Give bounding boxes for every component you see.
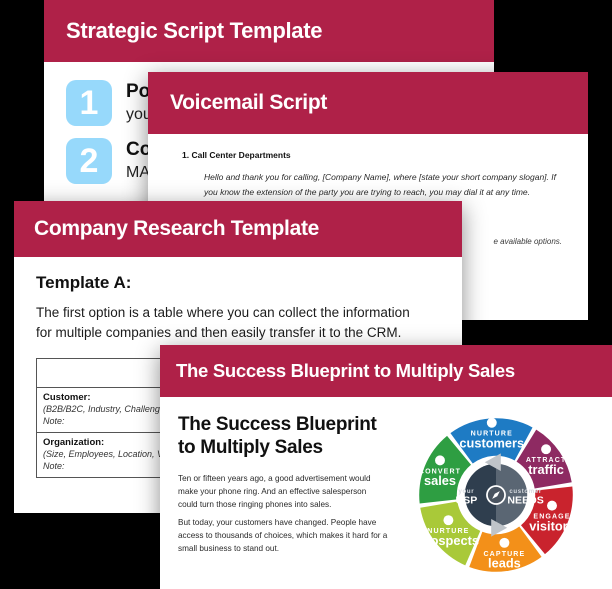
blueprint-body-title: The Success Blueprint to Multiply Sales xyxy=(178,413,388,459)
wheel-segment-big-label: customers xyxy=(459,436,524,451)
people-icon xyxy=(547,501,557,511)
step-number-badge: 1 xyxy=(66,80,112,126)
voicemail-tail-text: e available options. xyxy=(494,237,563,246)
edit-form-icon xyxy=(499,538,509,548)
sales-success-wheel-chart: your USP customer NEEDS ATTRACTtrafficEN… xyxy=(416,415,576,575)
magnet-icon xyxy=(541,444,551,454)
wheel-segment-big-label: sales xyxy=(424,473,456,488)
card-company-research-header: Company Research Template xyxy=(14,201,462,257)
wheel-segment-big-label: prospects xyxy=(418,533,479,548)
chat-icon xyxy=(443,515,453,525)
card-success-blueprint-header: The Success Blueprint to Multiply Sales xyxy=(160,345,612,397)
template-intro-paragraph: The first option is a table where you ca… xyxy=(36,303,428,342)
step-number-badge: 2 xyxy=(66,138,112,184)
voicemail-quote: Hello and thank you for calling, [Compan… xyxy=(204,170,559,200)
card-success-blueprint[interactable]: The Success Blueprint to Multiply Sales … xyxy=(160,345,612,589)
card-voicemail-script-header: Voicemail Script xyxy=(148,72,588,134)
card-voicemail-script-title: Voicemail Script xyxy=(170,91,327,115)
blueprint-paragraph: But today, your customers have changed. … xyxy=(178,517,388,555)
card-success-blueprint-title: The Success Blueprint to Multiply Sales xyxy=(176,360,515,382)
hub-left-big-label: USP xyxy=(456,494,478,506)
card-company-research-title: Company Research Template xyxy=(34,217,319,241)
template-heading: Template A: xyxy=(36,273,440,293)
blueprint-diagram-column: your USP customer NEEDS ATTRACTtrafficEN… xyxy=(394,413,598,575)
card-voicemail-script-body: 1. Call Center Departments Hello and tha… xyxy=(148,134,588,200)
money-icon xyxy=(435,455,445,465)
card-strategic-script-header: Strategic Script Template xyxy=(44,0,494,62)
card-success-blueprint-body: The Success Blueprint to Multiply Sales … xyxy=(160,397,612,575)
hub-right-big-label: NEEDS xyxy=(507,494,543,506)
blueprint-text-column: The Success Blueprint to Multiply Sales … xyxy=(178,413,388,575)
wheel-segment-big-label: leads xyxy=(488,556,521,571)
wheel-segment-big-label: visitors xyxy=(529,518,575,533)
flame-icon xyxy=(487,418,497,428)
blueprint-paragraph: Ten or fifteen years ago, a good adverti… xyxy=(178,473,388,511)
screenshot-stage: Strategic Script Template 1 Pow your 2 C… xyxy=(0,0,612,589)
wheel-segment-big-label: traffic xyxy=(528,462,564,477)
voicemail-section-heading: 1. Call Center Departments xyxy=(182,150,566,160)
card-strategic-script-title: Strategic Script Template xyxy=(66,18,322,44)
